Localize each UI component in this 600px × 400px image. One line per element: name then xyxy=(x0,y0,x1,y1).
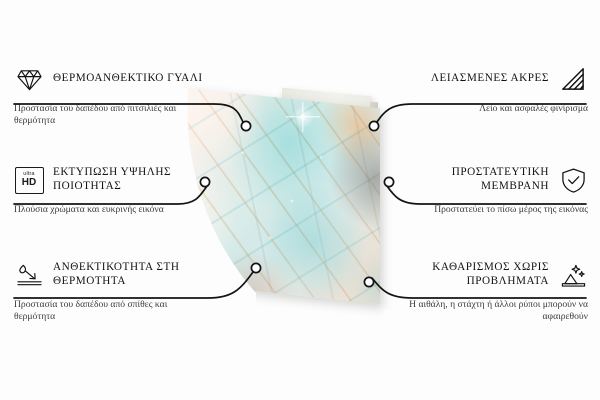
feature-header: ΘΕΡΜΟΑΝΘΕΚΤΙΚΟ ΓΥΑΛΙ xyxy=(14,62,210,96)
product-glass-panel xyxy=(184,88,380,305)
feature-heat-resistant-glass: ΘΕΡΜΟΑΝΘΕΚΤΙΚΟ ΓΥΑΛΙ Προστασία του δαπέδ… xyxy=(14,62,210,128)
feature-header: ΠΡΟΣΤΑΤΕΥΤΙΚΗ ΜΕΜΒΡΑΝΗ xyxy=(392,163,588,197)
feature-high-quality-print: ultra HD ΕΚΤΥΠΩΣΗ ΥΨΗΛΗΣ ΠΟΙΟΤΗΤΑΣ Πλούσ… xyxy=(14,163,210,216)
feature-title: ΛΕΙΑΣΜΕΝΕΣ ΑΚΡΕΣ xyxy=(431,72,549,86)
feature-description: Λείο και ασφαλές φινίρισμα xyxy=(392,103,588,115)
product-image xyxy=(178,88,422,318)
shield-check-icon xyxy=(558,165,588,195)
polished-edges-icon xyxy=(558,64,588,94)
feature-title: ΠΡΟΣΤΑΤΕΥΤΙΚΗ ΜΕΜΒΡΑΝΗ xyxy=(392,166,549,193)
feature-protective-film: ΠΡΟΣΤΑΤΕΥΤΙΚΗ ΜΕΜΒΡΑΝΗ Προστατεύει το πί… xyxy=(392,163,588,216)
feature-header: ultra HD ΕΚΤΥΠΩΣΗ ΥΨΗΛΗΣ ΠΟΙΟΤΗΤΑΣ xyxy=(14,163,210,197)
feature-header: ΚΑΘΑΡΙΣΜΟΣ ΧΩΡΙΣ ΠΡΟΒΛΗΜΑΤΑ xyxy=(392,258,588,292)
feature-description: Προστασία του δαπέδου από σπίθες και θερ… xyxy=(14,299,210,324)
heat-resistance-icon xyxy=(14,260,44,290)
feature-polished-edges: ΛΕΙΑΣΜΕΝΕΣ ΑΚΡΕΣ Λείο και ασφαλές φινίρι… xyxy=(392,62,588,115)
feature-title: ΚΑΘΑΡΙΣΜΟΣ ΧΩΡΙΣ ΠΡΟΒΛΗΜΑΤΑ xyxy=(392,261,549,288)
marble-ink-sparkles xyxy=(184,88,380,305)
feature-header: ΑΝΘΕΚΤΙΚΟΤΗΤΑ ΣΤΗ ΘΕΡΜΟΤΗΤΑ xyxy=(14,258,210,292)
feature-title: ΘΕΡΜΟΑΝΘΕΚΤΙΚΟ ΓΥΑΛΙ xyxy=(53,72,203,86)
feature-description: Προστατεύει το πίσω μέρος της εικόνας xyxy=(392,204,588,216)
feature-description: Πλούσια χρώματα και ευκρινής εικόνα xyxy=(14,204,210,216)
feature-title: ΑΝΘΕΚΤΙΚΟΤΗΤΑ ΣΤΗ ΘΕΡΜΟΤΗΤΑ xyxy=(53,261,210,288)
diamond-icon xyxy=(14,64,44,94)
ultra-hd-icon: ultra HD xyxy=(14,165,44,195)
feature-easy-cleaning: ΚΑΘΑΡΙΣΜΟΣ ΧΩΡΙΣ ΠΡΟΒΛΗΜΑΤΑ Η αιθάλη, η … xyxy=(392,258,588,324)
product-feature-infographic: ΘΕΡΜΟΑΝΘΕΚΤΙΚΟ ΓΥΑΛΙ Προστασία του δαπέδ… xyxy=(0,0,600,400)
easy-clean-icon xyxy=(558,260,588,290)
feature-heat-resistance: ΑΝΘΕΚΤΙΚΟΤΗΤΑ ΣΤΗ ΘΕΡΜΟΤΗΤΑ Προστασία το… xyxy=(14,258,210,324)
feature-header: ΛΕΙΑΣΜΕΝΕΣ ΑΚΡΕΣ xyxy=(392,62,588,96)
feature-title: ΕΚΤΥΠΩΣΗ ΥΨΗΛΗΣ ΠΟΙΟΤΗΤΑΣ xyxy=(53,166,210,193)
feature-description: Η αιθάλη, η στάχτη ή άλλοι ρύποι μπορούν… xyxy=(392,299,588,324)
feature-description: Προστασία του δαπέδου από πιτσιλιές και … xyxy=(14,103,210,128)
